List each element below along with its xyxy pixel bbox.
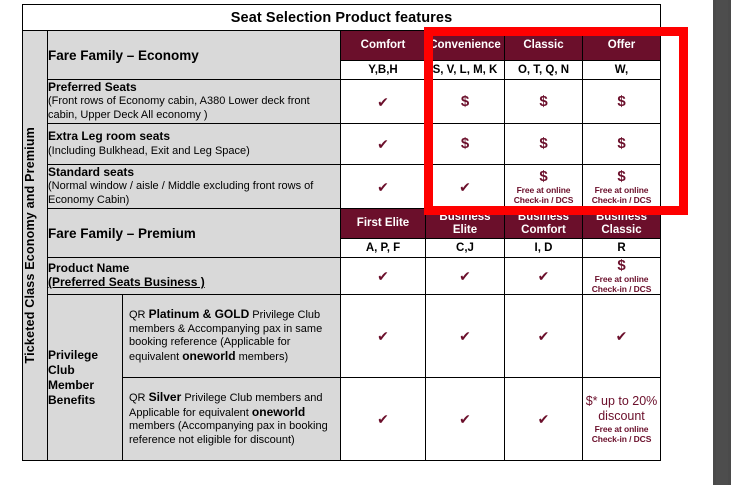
cell-standard-classic: $ Free at online Check-in / DCS xyxy=(505,165,583,209)
privilege-club-member-benefits-label: Privilege Club Member Benefits xyxy=(48,295,123,461)
privilege-silver-description: QR Silver Privilege Club members and App… xyxy=(123,378,341,461)
cell-preferred-offer: $ xyxy=(583,80,661,124)
feature-title: Extra Leg room seats xyxy=(48,129,170,143)
cell-standard-offer: $ Free at online Check-in / DCS xyxy=(583,165,661,209)
booking-codes-offer: W, xyxy=(583,61,661,80)
seat-selection-product-features-table: Seat Selection Product features Ticketed… xyxy=(22,4,661,461)
cell-product-business-comfort: ✔ xyxy=(505,258,583,295)
table-row: Privilege Club Member Benefits QR Platin… xyxy=(23,295,661,378)
table-row: Preferred Seats (Front rows of Economy c… xyxy=(23,80,661,124)
table-row: Product Name (Preferred Seats Business )… xyxy=(23,258,661,295)
fare-family-economy-label: Fare Family – Economy xyxy=(48,31,341,80)
column-header-classic: Classic xyxy=(505,31,583,61)
column-header-business-classic: Business Classic xyxy=(583,209,661,239)
cell-extraleg-classic: $ xyxy=(505,124,583,165)
fare-family-premium-label: Fare Family – Premium xyxy=(48,209,341,258)
cell-platinum-business-classic: ✔ xyxy=(583,295,661,378)
cell-silver-business-elite: ✔ xyxy=(426,378,505,461)
cell-silver-first-elite: ✔ xyxy=(341,378,426,461)
cell-platinum-business-comfort: ✔ xyxy=(505,295,583,378)
feature-title: Product Name xyxy=(48,261,129,275)
scrollbar-track[interactable] xyxy=(716,0,728,485)
cell-extraleg-convenience: $ xyxy=(426,124,505,165)
feature-extra-leg-room-seats: Extra Leg room seats (Including Bulkhead… xyxy=(48,124,341,165)
cell-extraleg-offer: $ xyxy=(583,124,661,165)
column-header-comfort: Comfort xyxy=(341,31,426,61)
cell-standard-convenience: ✔ xyxy=(426,165,505,209)
table-title-row: Seat Selection Product features xyxy=(23,5,661,31)
booking-codes-convenience: S, V, L, M, K xyxy=(426,61,505,80)
cell-silver-business-classic: $* up to 20% discount Free at online Che… xyxy=(583,378,661,461)
booking-codes-business-elite: C,J xyxy=(426,239,505,258)
cell-preferred-comfort: ✔ xyxy=(341,80,426,124)
cell-preferred-convenience: $ xyxy=(426,80,505,124)
column-header-convenience: Convenience xyxy=(426,31,505,61)
feature-preferred-seats: Preferred Seats (Front rows of Economy c… xyxy=(48,80,341,124)
privilege-label-text: Privilege Club Member Benefits xyxy=(48,348,98,407)
cell-standard-comfort: ✔ xyxy=(341,165,426,209)
feature-description: (Front rows of Economy cabin, A380 Lower… xyxy=(48,95,310,121)
feature-product-name: Product Name (Preferred Seats Business ) xyxy=(48,258,341,295)
cell-platinum-business-elite: ✔ xyxy=(426,295,505,378)
cell-product-first-elite: ✔ xyxy=(341,258,426,295)
cell-silver-business-comfort: ✔ xyxy=(505,378,583,461)
cell-extraleg-comfort: ✔ xyxy=(341,124,426,165)
booking-codes-business-classic: R xyxy=(583,239,661,258)
feature-title: Standard seats xyxy=(48,165,134,179)
feature-standard-seats: Standard seats (Normal window / aisle / … xyxy=(48,165,341,209)
table-row: Standard seats (Normal window / aisle / … xyxy=(23,165,661,209)
feature-description: (Including Bulkhead, Exit and Leg Space) xyxy=(48,145,250,157)
column-header-offer: Offer xyxy=(583,31,661,61)
column-header-business-elite: Business Elite xyxy=(426,209,505,239)
privilege-platinum-gold-description: QR Platinum & GOLD Privilege Club member… xyxy=(123,295,341,378)
booking-codes-comfort: Y,B,H xyxy=(341,61,426,80)
economy-header-row: Ticketed Class Economy and Premium Fare … xyxy=(23,31,661,61)
cell-preferred-classic: $ xyxy=(505,80,583,124)
cell-product-business-elite: ✔ xyxy=(426,258,505,295)
feature-description: (Normal window / aisle / Middle excludin… xyxy=(48,180,313,206)
cell-product-business-classic: $ Free at online Check-in / DCS xyxy=(583,258,661,295)
document-page: Seat Selection Product features Ticketed… xyxy=(0,0,713,485)
feature-title: Preferred Seats xyxy=(48,80,137,94)
ticketed-class-vertical-label: Ticketed Class Economy and Premium xyxy=(23,31,48,461)
booking-codes-business-comfort: I, D xyxy=(505,239,583,258)
premium-header-row: Fare Family – Premium First Elite Busine… xyxy=(23,209,661,239)
booking-codes-first-elite: A, P, F xyxy=(341,239,426,258)
column-header-first-elite: First Elite xyxy=(341,209,426,239)
vertical-scrollbar[interactable] xyxy=(713,0,731,485)
booking-codes-classic: O, T, Q, N xyxy=(505,61,583,80)
column-header-business-comfort: Business Comfort xyxy=(505,209,583,239)
feature-subtitle: (Preferred Seats Business ) xyxy=(48,275,205,289)
table-row: Extra Leg room seats (Including Bulkhead… xyxy=(23,124,661,165)
cell-platinum-first-elite: ✔ xyxy=(341,295,426,378)
page-title: Seat Selection Product features xyxy=(23,5,661,31)
